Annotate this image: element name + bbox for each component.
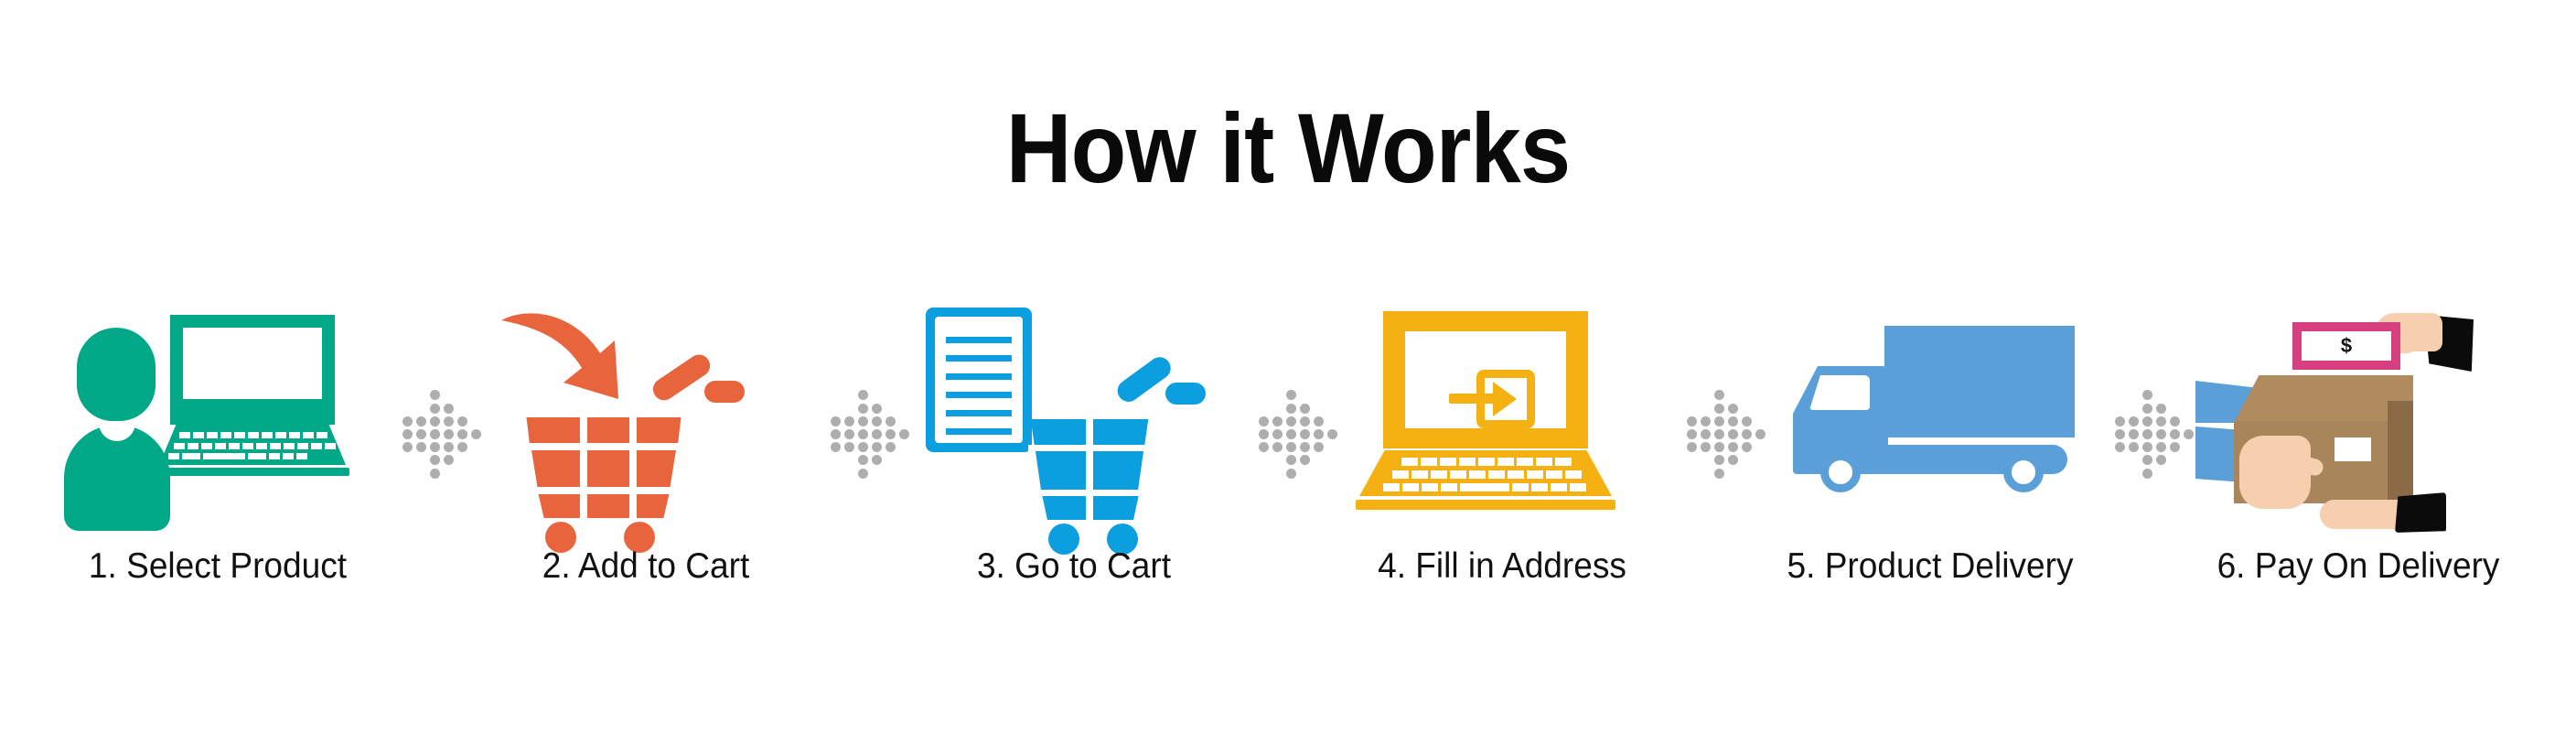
laptop-keyboard-base xyxy=(159,425,346,465)
box-side-face xyxy=(2388,401,2413,503)
step-select-product[interactable]: 1. Select Product xyxy=(46,302,390,668)
curved-arrow-icon xyxy=(498,304,635,412)
document-page xyxy=(935,317,1023,443)
document-text-line xyxy=(946,373,1012,380)
truck-cargo-box xyxy=(1884,326,2075,437)
step-add-to-cart[interactable]: 2. Add to Cart xyxy=(474,302,818,668)
step-product-delivery[interactable]: 5. Product Delivery xyxy=(1758,302,2102,668)
keyboard-row-2 xyxy=(1392,470,1582,479)
keyboard-row-2 xyxy=(174,443,336,449)
document-text-line xyxy=(946,428,1012,435)
cart-handle-grip xyxy=(1165,383,1206,405)
left-sleeve-cuff xyxy=(2395,492,2446,533)
step-6-icon-area: $ xyxy=(2186,302,2530,540)
dotted-arrow-right-icon xyxy=(390,302,474,540)
step-6-label: 6. Pay On Delivery xyxy=(2195,547,2521,587)
step-5-label: 5. Product Delivery xyxy=(1766,547,2093,587)
cart-hline-1 xyxy=(523,443,684,450)
laptop-screen-display xyxy=(1405,331,1566,428)
laptop-base-edge xyxy=(156,468,349,476)
keyboard-row-3 xyxy=(1383,483,1586,491)
step-3-icon-area xyxy=(902,302,1246,540)
delivery-truck-icon xyxy=(1786,326,2075,509)
box-lid xyxy=(2234,375,2413,423)
document-text-line xyxy=(946,410,1012,416)
cart-divider-1 xyxy=(1086,419,1093,522)
login-arrow-head xyxy=(1493,382,1517,416)
step-4-icon-area xyxy=(1330,302,1674,540)
laptop-base-edge xyxy=(1356,500,1615,510)
laptop-screen-bezel xyxy=(1383,311,1588,448)
cart-basket-row-3 xyxy=(534,494,673,518)
cart-handle-grip xyxy=(704,381,745,403)
cart-handle-arm xyxy=(649,351,714,405)
document-with-cart-icon xyxy=(926,308,1222,527)
keyboard-row-1 xyxy=(1401,458,1572,466)
box-shipping-label xyxy=(2334,437,2371,461)
how-it-works-infographic: How it Works xyxy=(0,0,2576,745)
receiving-hand xyxy=(2320,500,2408,529)
person-head xyxy=(77,328,156,421)
cart-hline-2 xyxy=(1028,490,1151,496)
step-1-icon-area xyxy=(46,302,390,540)
step-2-icon-area xyxy=(474,302,818,540)
dotted-arrow-right-icon xyxy=(1246,302,1330,540)
step-4-label: 4. Fill in Address xyxy=(1338,547,1665,587)
hands-exchanging-box-and-cash-icon: $ xyxy=(2195,302,2521,531)
cart-basket-row-1 xyxy=(523,417,684,445)
document-frame xyxy=(926,308,1032,452)
cart-basket-row-2 xyxy=(527,450,681,489)
steps-row: 1. Select Product xyxy=(0,302,2576,668)
document-text-line xyxy=(946,337,1012,343)
holding-hand-palm xyxy=(2239,436,2311,509)
laptop-with-login-arrow-icon xyxy=(1356,311,1648,527)
laptop-keyboard-base xyxy=(1359,450,1612,496)
dotted-arrow-right-icon xyxy=(818,302,902,540)
step-1-label: 1. Select Product xyxy=(54,547,381,587)
document-text-line xyxy=(946,355,1012,362)
document-text-line xyxy=(946,392,1012,398)
keyboard-row-3 xyxy=(168,453,307,459)
page-title: How it Works xyxy=(103,99,2474,198)
person-with-laptop-icon xyxy=(64,315,371,525)
truck-wheel-front xyxy=(1820,452,1861,492)
step-pay-on-delivery[interactable]: $ 6. Pay xyxy=(2186,302,2530,668)
cart-hline-1 xyxy=(1028,445,1151,451)
step-2-label: 2. Add to Cart xyxy=(482,547,809,587)
cart-hline-2 xyxy=(523,487,684,494)
truck-wheel-rear xyxy=(2003,452,2044,492)
cart-divider-2 xyxy=(629,417,637,518)
step-3-label: 3. Go to Cart xyxy=(910,547,1237,587)
laptop-screen-display xyxy=(183,328,322,399)
currency-symbol: $ xyxy=(2341,334,2352,358)
shopping-cart-with-arrow-icon xyxy=(501,308,790,527)
laptop-screen-bezel xyxy=(170,315,335,425)
money-note: $ xyxy=(2292,322,2400,370)
cart-divider-1 xyxy=(580,417,587,518)
dotted-arrow-right-icon xyxy=(1674,302,1758,540)
step-go-to-cart[interactable]: 3. Go to Cart xyxy=(902,302,1246,668)
step-5-icon-area xyxy=(1758,302,2102,540)
keyboard-row-1 xyxy=(179,432,327,438)
step-fill-in-address[interactable]: 4. Fill in Address xyxy=(1330,302,1674,668)
dotted-arrow-right-icon xyxy=(2102,302,2186,540)
